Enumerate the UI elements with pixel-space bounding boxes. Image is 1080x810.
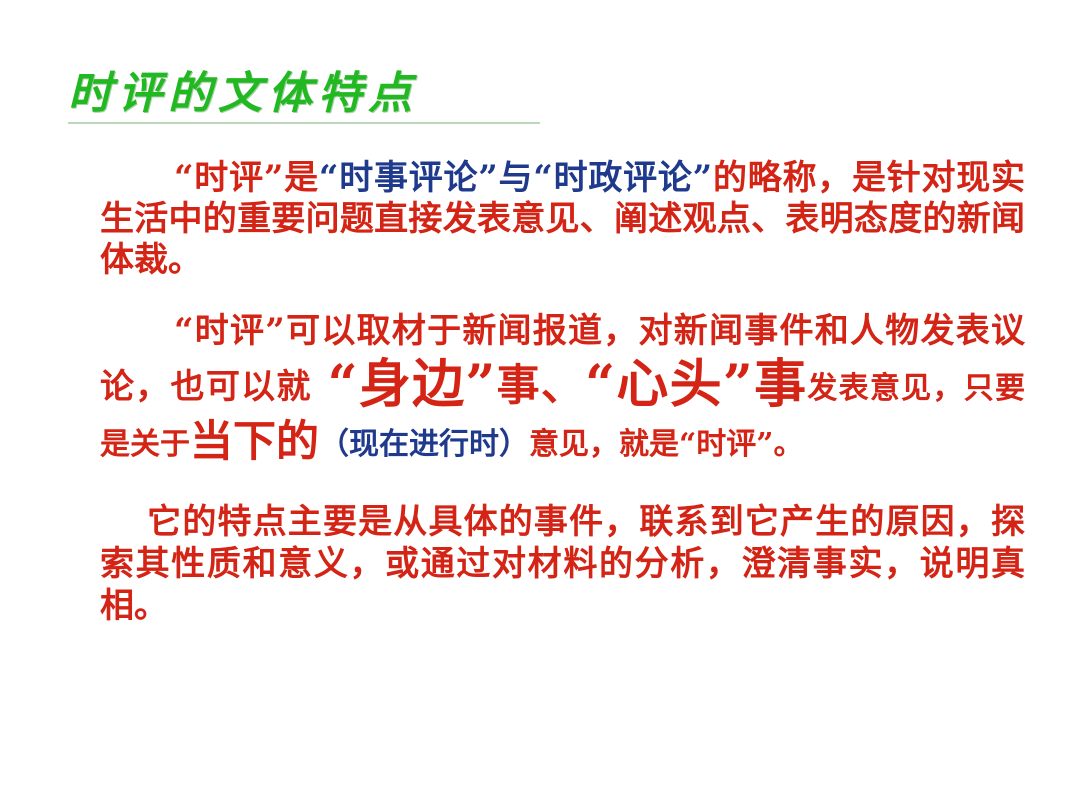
title-block: 时评的文体特点 <box>68 68 543 124</box>
definition-terms-blue: “时事评论”与“时政评论” <box>319 158 712 198</box>
title-underline-rule <box>68 122 540 124</box>
emphasis-shenbian: “身边” <box>328 354 496 415</box>
paragraph-features: 它的特点主要是从具体的事件，联系到它产生的原因，探索其性质和意义，或通过对材料的… <box>100 501 1025 627</box>
emphasis-xintou: “心头”事 <box>585 354 807 415</box>
body-content: “时评”是“时事评论”与“时政评论”的略称，是针对现实生活中的重要问题直接发表意… <box>100 158 1025 629</box>
scope-shi-dun: 事、 <box>495 361 585 411</box>
features-text: 它的特点主要是从具体的事件，联系到它产生的原因，探索其性质和意义，或通过对材料的… <box>100 502 1025 626</box>
scope-parenthetical-blue: （现在进行时） <box>319 427 529 462</box>
paragraph-scope: “时评”可以取材于新闻报道，对新闻事件和人物发表议论，也可以就“身边”事、“心头… <box>100 303 1025 471</box>
scope-tail-text: 意见，就是“时评”。 <box>529 427 804 462</box>
slide-canvas: 时评的文体特点 “时评”是“时事评论”与“时政评论”的略称，是针对现实生活中的重… <box>0 0 1080 810</box>
emphasis-dangxia-de: 当下的 <box>190 417 319 467</box>
paragraph-definition: “时评”是“时事评论”与“时政评论”的略称，是针对现实生活中的重要问题直接发表意… <box>100 158 1025 281</box>
definition-lead-red: “时评”是 <box>174 158 319 198</box>
page-title: 时评的文体特点 <box>68 68 543 120</box>
